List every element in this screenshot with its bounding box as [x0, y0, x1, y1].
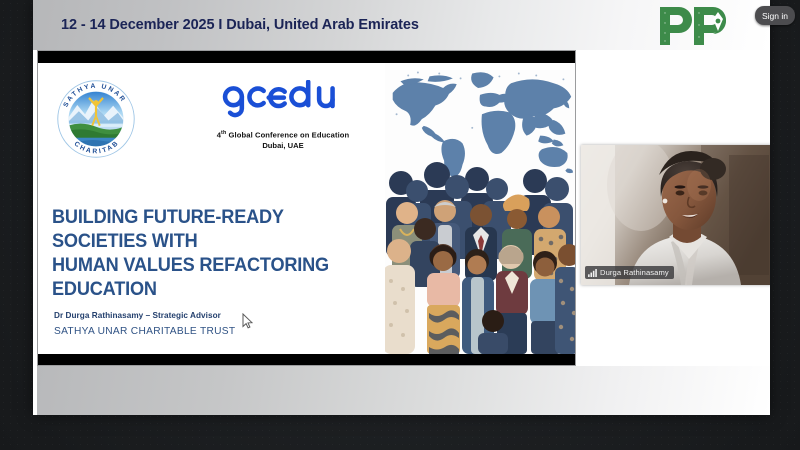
arrow-cursor	[242, 313, 253, 329]
page-footer-strip	[37, 366, 770, 415]
participant-nameplate: Durga Rathinasamy	[585, 266, 674, 279]
conference-banner-text: 12 - 14 December 2025 I Dubai, United Ar…	[61, 17, 419, 33]
conference-banner: 12 - 14 December 2025 I Dubai, United Ar…	[33, 0, 770, 50]
presentation-slide-stage[interactable]: SATHYA UNAR CHARITABLE TRUST	[37, 50, 576, 366]
slide-artwork	[385, 63, 575, 354]
slide-title-line2: HUMAN VALUES REFACTORING EDUCATION	[52, 253, 345, 301]
presenter-video-tile[interactable]: Durga Rathinasamy	[581, 145, 770, 285]
conference-logo-caption-line2: Dubai, UAE	[188, 141, 378, 150]
slide-title-line1: BUILDING FUTURE-READY SOCIETIES WITH	[52, 205, 345, 253]
slide-presenter-organisation: SATHYA UNAR CHARITABLE TRUST	[54, 326, 235, 337]
slide-presenter-name: Dr Durga Rathinasamy – Strategic Advisor	[54, 311, 221, 320]
conference-logo-block: 4th Global Conference on Education Dubai…	[188, 80, 378, 150]
signal-bars-icon	[588, 269, 597, 277]
diverse-crowd-illustration	[385, 145, 575, 354]
sathya-unar-charitable-trust-emblem: SATHYA UNAR CHARITABLE TRUST	[57, 80, 135, 158]
conference-logo-caption-line1: 4th Global Conference on Education	[188, 130, 378, 140]
conference-caption-rest: Global Conference on Education	[226, 131, 349, 140]
sign-in-label: Sign in	[762, 11, 788, 21]
presenter-video-stream	[581, 145, 770, 285]
presentation-slide: SATHYA UNAR CHARITABLE TRUST	[38, 63, 575, 354]
pp-brand-logo	[656, 3, 742, 49]
slide-title: BUILDING FUTURE-READY SOCIETIES WITH HUM…	[52, 205, 345, 301]
participant-name-label: Durga Rathinasamy	[600, 268, 669, 277]
gcedu-wordmark	[220, 80, 346, 122]
sign-in-button[interactable]: Sign in	[755, 6, 795, 25]
webinar-page: 12 - 14 December 2025 I Dubai, United Ar…	[33, 0, 770, 415]
